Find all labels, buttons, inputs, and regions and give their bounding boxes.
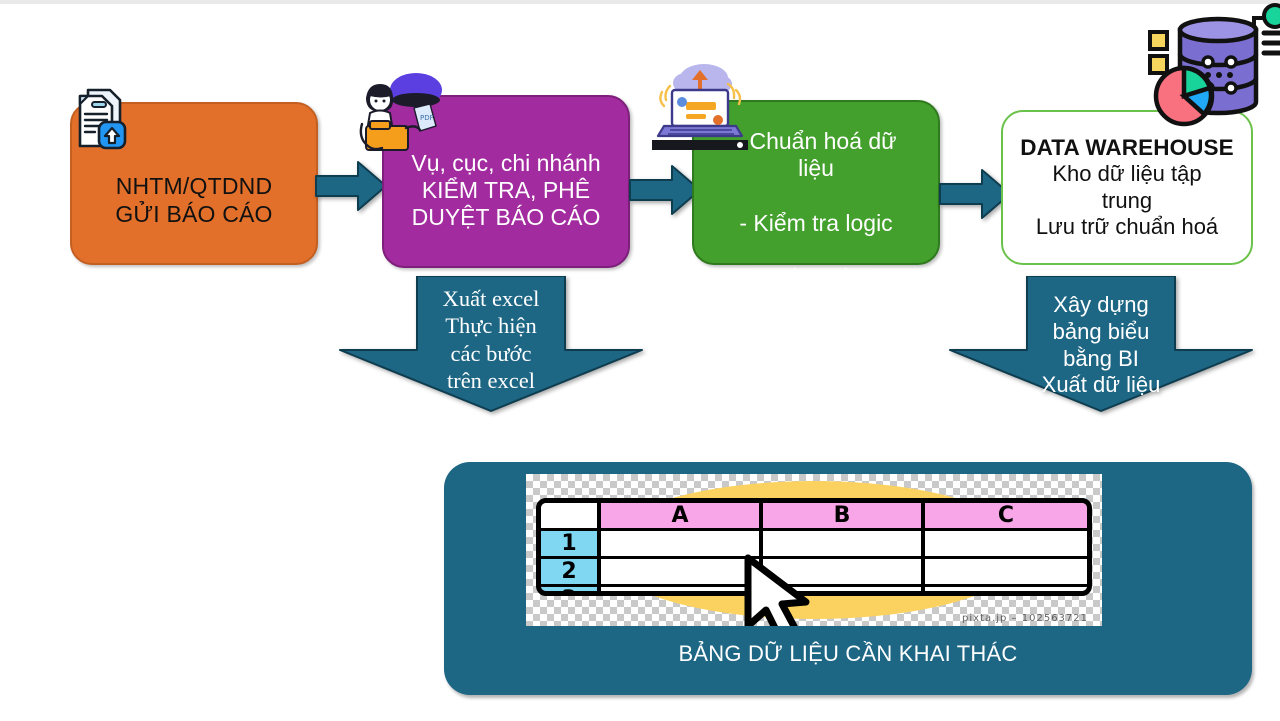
data-warehouse-title: DATA WAREHOUSE [1020,135,1233,162]
process-box-data-warehouse[interactable]: DATA WAREHOUSE Kho dữ liệu tập trung Lưu… [1001,110,1253,265]
spreadsheet-header-b: B [763,503,925,531]
diagram-canvas: NHTM/QTDND GỬI BÁO CÁO Vụ, cục, chi nhán… [0,0,1280,721]
laptop-cloud-upload-icon [652,56,748,152]
bottom-panel-caption: BẢNG DỮ LIỆU CẦN KHAI THÁC [444,641,1252,667]
spreadsheet-cell-c1 [925,531,1087,559]
spreadsheet-rownum-3: 3 [541,587,601,596]
connector-arrow-2 [628,162,702,218]
connector-arrow-1 [314,158,388,214]
cuc-cntt-bullet-3: - Mapping vào DW [700,264,932,291]
spreadsheet-corner-cell [541,503,601,531]
spreadsheet-illustration: PIXTA A B C 1 2 3 pixta.jp – 102563721 [526,474,1102,626]
person-folder-cloud-icon: PDF [352,68,448,164]
spreadsheet-header-c: C [925,503,1087,531]
spreadsheet-cell-c3 [925,587,1087,596]
database-analytics-icon [1136,0,1280,130]
spreadsheet-header-a: A [601,503,763,531]
spreadsheet-rownum-2: 2 [541,559,601,587]
spreadsheet-rownum-1: 1 [541,531,601,559]
top-edge-strip [0,0,1280,4]
spreadsheet-watermark: pixta.jp – 102563721 [962,613,1088,624]
callout-arrow-excel: Xuất excel Thực hiện các bước trên excel [338,276,644,412]
mouse-pointer-icon [736,552,876,626]
process-box-nhtm-label: NHTM/QTDND GỬI BÁO CÁO [115,173,272,227]
cuc-cntt-bullet-2: - Kiểm tra logic [700,210,932,237]
document-upload-icon [66,82,138,154]
data-warehouse-subtitle: Kho dữ liệu tập trung Lưu trữ chuẩn hoá [1036,161,1218,240]
spreadsheet-cell-c2 [925,559,1087,587]
svg-text:PDF: PDF [420,114,434,122]
callout-arrow-bi: Xây dựng bảng biểu bằng BI Xuất dữ liệu [948,276,1254,412]
